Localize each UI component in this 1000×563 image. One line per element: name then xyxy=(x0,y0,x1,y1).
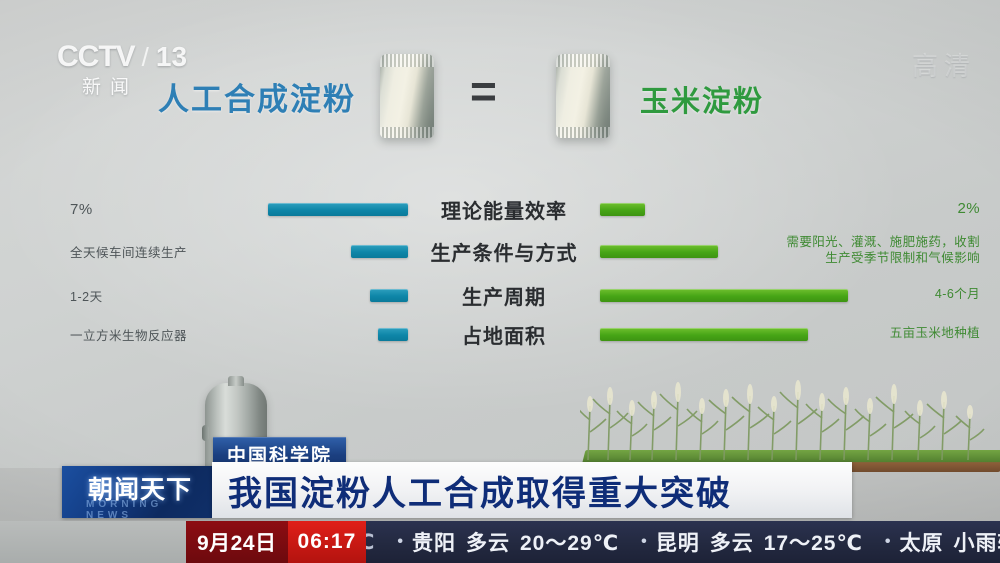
starch-bag-left-icon xyxy=(380,54,434,138)
ticker-city: 太原 xyxy=(900,527,944,557)
ticker-temp: 17～25℃ xyxy=(764,527,863,557)
cornfield-illustration xyxy=(580,378,1000,474)
row-left-bar xyxy=(351,245,408,258)
program-name-en: MORNING NEWS xyxy=(86,499,212,518)
row-right-bar xyxy=(600,203,645,216)
tv-broadcast-screen: CCTV / 13 新闻 高清 人工合成淀粉 = 玉米淀粉 7% 理论能量效率 … xyxy=(0,0,1000,563)
ticker-partial-temp: 5℃ xyxy=(366,530,375,555)
ticker-city: 昆明 xyxy=(656,527,700,557)
row-left-bar xyxy=(378,328,408,341)
corn-stalks-icon xyxy=(580,380,1000,460)
weather-ticker: 9月24日 06:17 5℃ • 贵阳 多云 20～29℃ • 昆明 多云 17… xyxy=(0,521,1000,563)
comparison-row: 全天候车间连续生产 生产条件与方式 需要阳光、灌溉、施肥施药，收割 生产受季节限… xyxy=(0,232,1000,270)
ticker-time: 06:17 xyxy=(288,521,367,563)
header-left-title: 人工合成淀粉 xyxy=(158,74,356,119)
row-left-bar-track xyxy=(150,202,408,216)
row-right-value: 2% xyxy=(660,200,980,219)
row-metric-label: 生产周期 xyxy=(418,281,590,310)
ticker-city: 贵阳 xyxy=(412,527,456,557)
row-left-bar-track xyxy=(150,244,408,258)
comparison-row: 7% 理论能量效率 2% xyxy=(0,190,1000,228)
ticker-bullet-icon: • xyxy=(641,533,648,551)
ticker-items: 5℃ • 贵阳 多云 20～29℃ • 昆明 多云 17～25℃ • 太原 xyxy=(366,527,1000,557)
row-left-bar-track xyxy=(150,327,408,341)
ticker-item: • 贵阳 多云 20～29℃ xyxy=(383,527,619,557)
row-right-value: 五亩玉米地种植 xyxy=(660,326,980,342)
ticker-bullet-icon: • xyxy=(885,533,892,551)
ticker-scroll-body: 5℃ • 贵阳 多云 20～29℃ • 昆明 多云 17～25℃ • 太原 xyxy=(366,521,1000,563)
header-right-title: 玉米淀粉 xyxy=(640,78,764,120)
cctv-wordmark: CCTV xyxy=(57,40,135,74)
cctv-channel-logo: CCTV / 13 xyxy=(57,40,187,74)
equals-sign-icon: = xyxy=(470,68,497,114)
ticker-item-partial: 5℃ xyxy=(366,530,375,555)
comparison-chart: 7% 理论能量效率 2% 全天候车间连续生产 生产条件与方式 需要阳光、灌溉、施… xyxy=(0,190,1000,355)
row-metric-label: 占地面积 xyxy=(418,320,590,349)
row-metric-label: 理论能量效率 xyxy=(418,195,590,224)
row-left-bar-track xyxy=(150,288,408,302)
ticker-date: 9月24日 xyxy=(186,521,288,563)
row-left-bar xyxy=(370,289,408,302)
ticker-condition: 多云 xyxy=(466,527,510,557)
ticker-condition: 小雨转大雨 xyxy=(954,527,1000,557)
headline-text: 我国淀粉人工合成取得重大突破 xyxy=(212,466,732,515)
ticker-bullet-icon: • xyxy=(397,533,404,551)
hd-watermark: 高清 xyxy=(912,46,976,83)
comparison-row: 1-2天 生产周期 4-6个月 xyxy=(0,276,1000,314)
row-metric-label: 生产条件与方式 xyxy=(418,237,590,266)
comparison-row: 一立方米生物反应器 占地面积 五亩玉米地种植 xyxy=(0,315,1000,353)
ticker-item: • 昆明 多云 17～25℃ xyxy=(627,527,863,557)
row-right-value: 4-6个月 xyxy=(660,287,980,303)
ticker-temp: 20～29℃ xyxy=(520,527,619,557)
ticker-condition: 多云 xyxy=(710,527,754,557)
row-right-value: 需要阳光、灌溉、施肥施药，收割 生产受季节限制和气候影响 xyxy=(660,235,980,266)
program-logo: 朝闻天下 MORNING NEWS xyxy=(62,466,212,518)
ticker-item: • 太原 小雨转大雨 15～19 xyxy=(871,527,1000,557)
cctv-slash-icon: / xyxy=(142,42,149,73)
row-left-bar xyxy=(268,203,408,216)
starch-bag-right-icon xyxy=(556,54,610,138)
cctv-subtitle-news: 新闻 xyxy=(82,72,138,99)
headline-banner: 我国淀粉人工合成取得重大突破 xyxy=(212,462,852,518)
ticker-left-pad xyxy=(0,521,186,563)
cctv-channel-number: 13 xyxy=(156,41,187,73)
